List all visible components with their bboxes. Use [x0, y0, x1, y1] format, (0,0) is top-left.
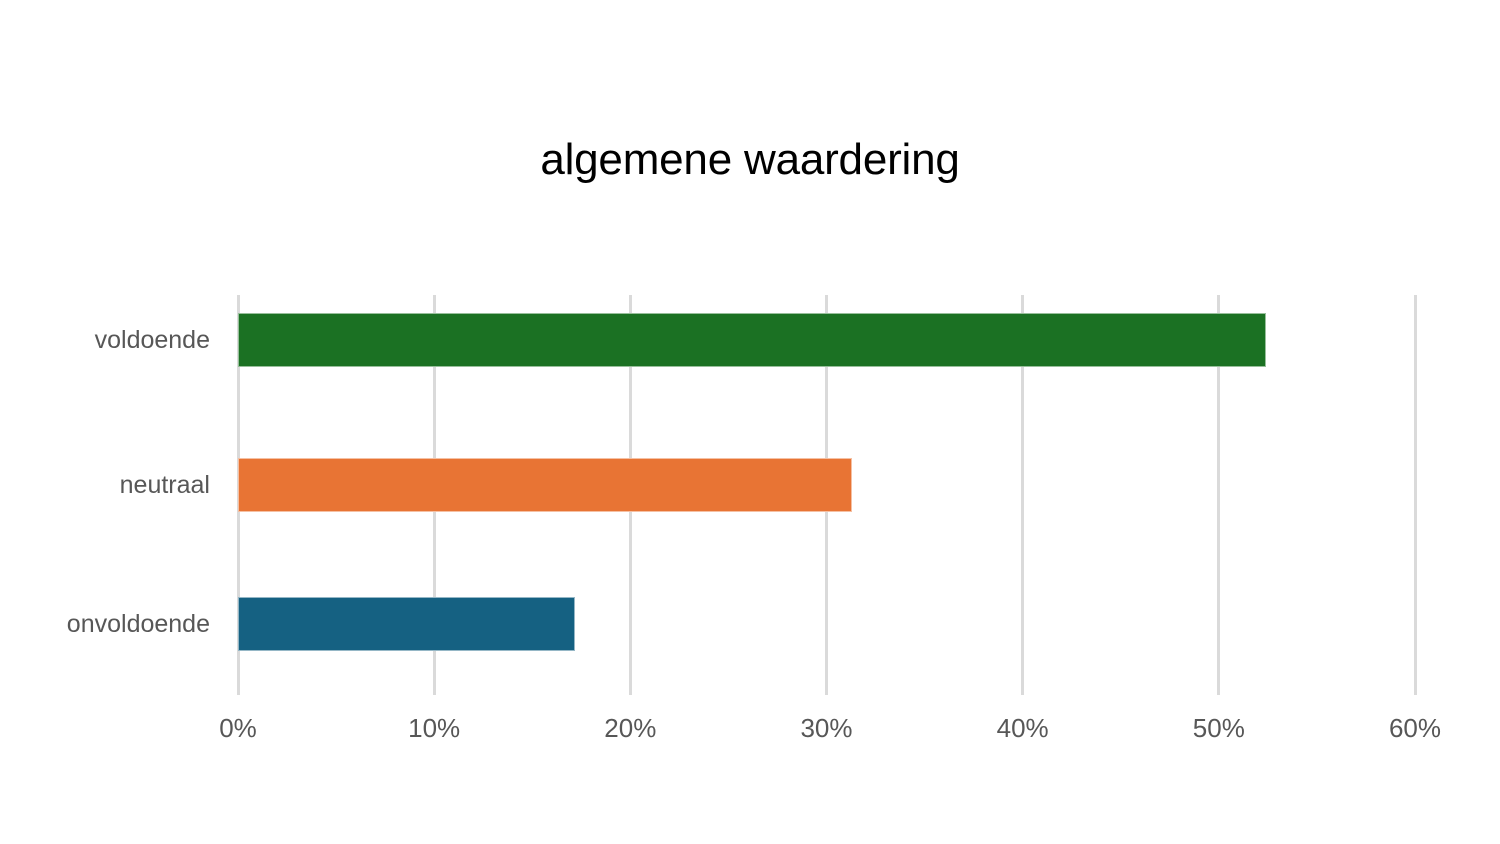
plot-area — [238, 295, 1415, 695]
x-axis-tick-label: 10% — [354, 712, 514, 744]
bar-chart: algemene waardering 0%10%20%30%40%50%60%… — [0, 0, 1500, 844]
x-axis-tick-label: 40% — [943, 712, 1103, 744]
bar-voldoende[interactable] — [238, 313, 1266, 367]
y-axis-category-label-neutraal: neutraal — [0, 470, 210, 500]
x-axis-tick-label: 0% — [158, 712, 318, 744]
bar-onvoldoende[interactable] — [238, 597, 575, 651]
bar-neutraal[interactable] — [238, 458, 852, 512]
x-axis-tick-label: 30% — [747, 712, 907, 744]
x-axis-tick-label: 60% — [1335, 712, 1495, 744]
x-axis-tick-label: 50% — [1139, 712, 1299, 744]
gridline-x-60% — [1414, 295, 1417, 695]
y-axis-category-label-voldoende: voldoende — [0, 325, 210, 355]
chart-title: algemene waardering — [0, 131, 1500, 189]
x-axis-tick-label: 20% — [550, 712, 710, 744]
y-axis-category-label-onvoldoende: onvoldoende — [0, 609, 210, 639]
